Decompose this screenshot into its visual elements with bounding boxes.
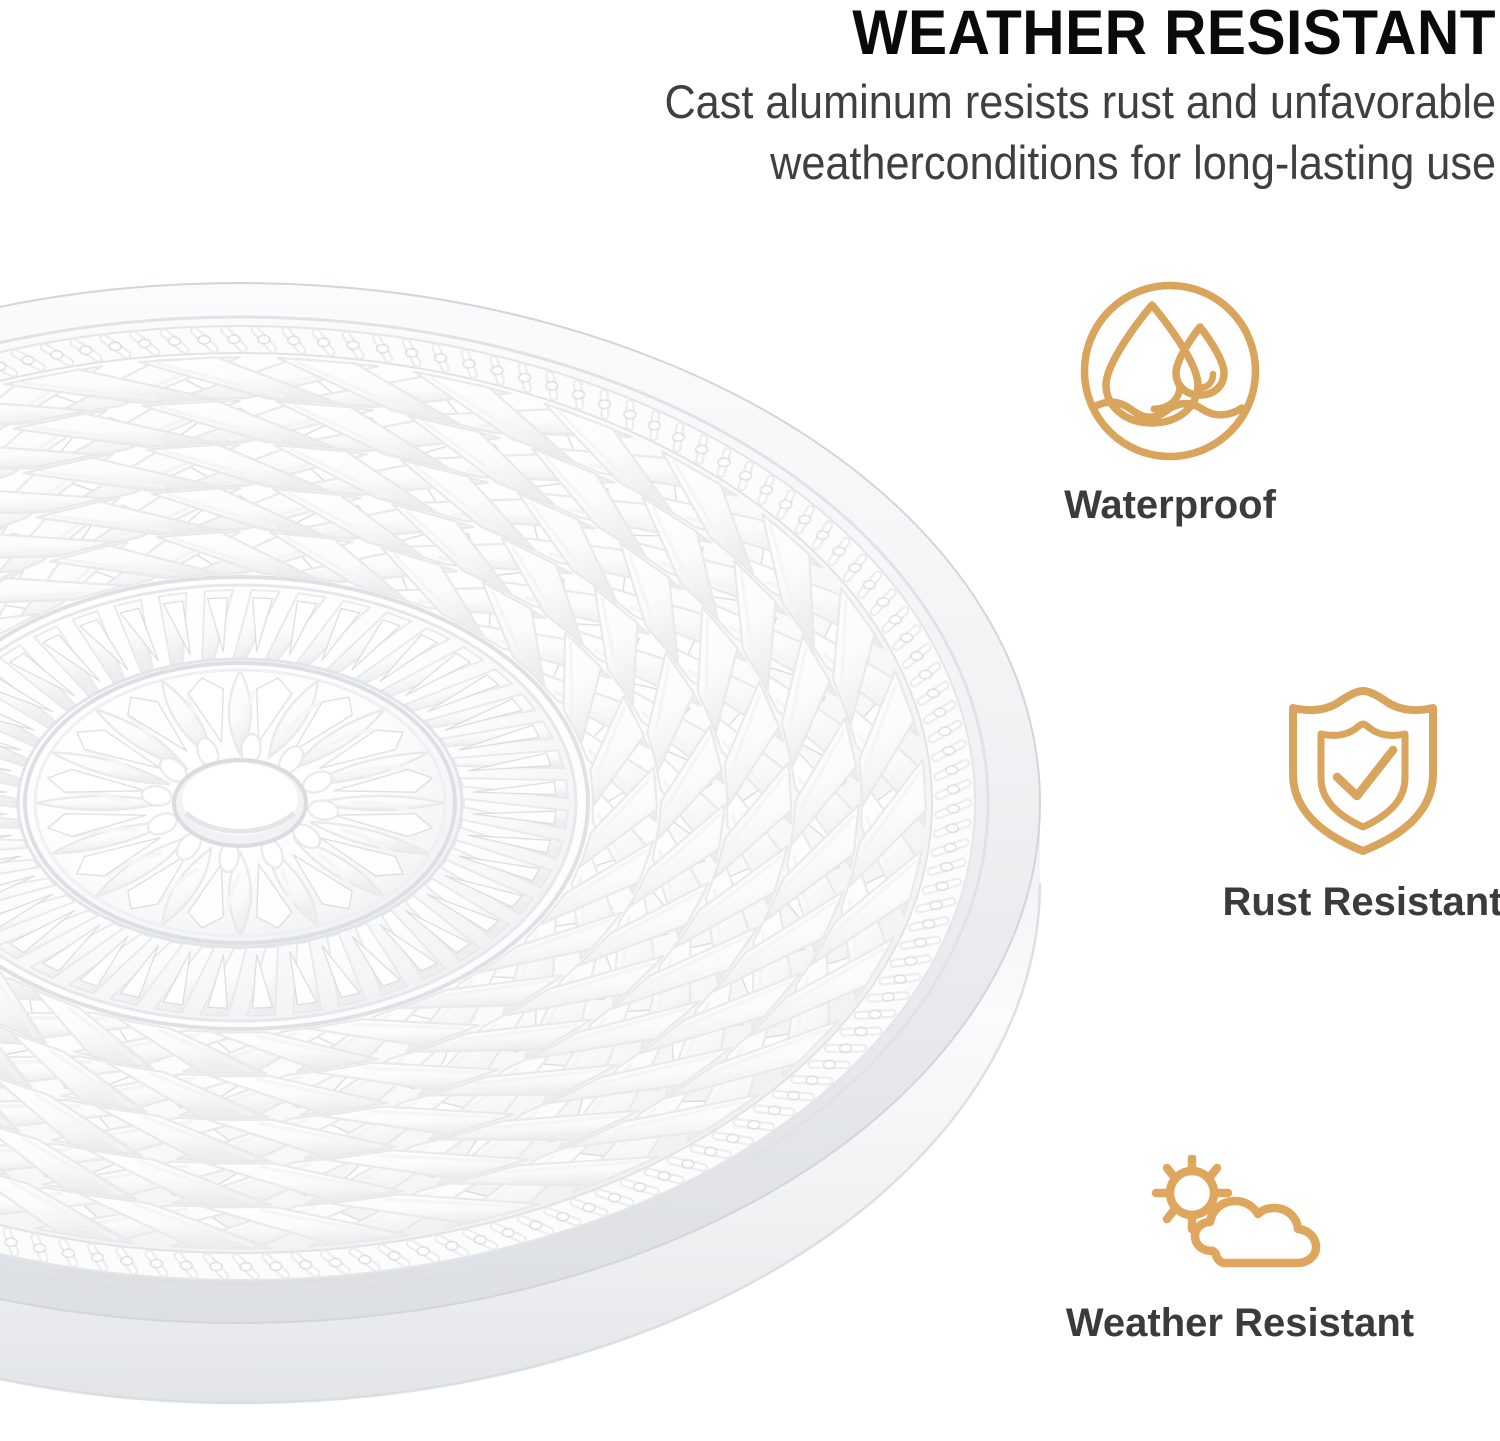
page-subtitle-line-1: Cast aluminum resists rust and unfavorab… [120,71,1496,132]
page-title: WEATHER RESISTANT [105,0,1496,64]
header-text-block: WEATHER RESISTANT Cast aluminum resists … [0,0,1500,193]
umbrella-hole [174,760,306,846]
product-feature-graphic: WEATHER RESISTANT Cast aluminum resists … [0,0,1500,1441]
feature-waterproof: Waterproof [1000,281,1340,528]
feature-rust-resistant-label: Rust Resistant [1180,879,1500,925]
water-drop-in-circle-icon [1000,281,1340,466]
feature-rust-resistant: Rust Resistant [1180,686,1500,925]
feature-weather-resistant-label: Weather Resistant [1040,1300,1440,1346]
page-subtitle: Cast aluminum resists rust and unfavorab… [120,64,1496,193]
feature-weather-resistant: Weather Resistant [1040,1155,1440,1346]
page-subtitle-line-2: weatherconditions for long-lasting use [120,132,1496,193]
shield-check-icon [1180,686,1500,861]
product-image-table-top [0,243,1160,1441]
feature-waterproof-label: Waterproof [1000,482,1340,528]
sun-behind-cloud-icon [1040,1155,1440,1280]
